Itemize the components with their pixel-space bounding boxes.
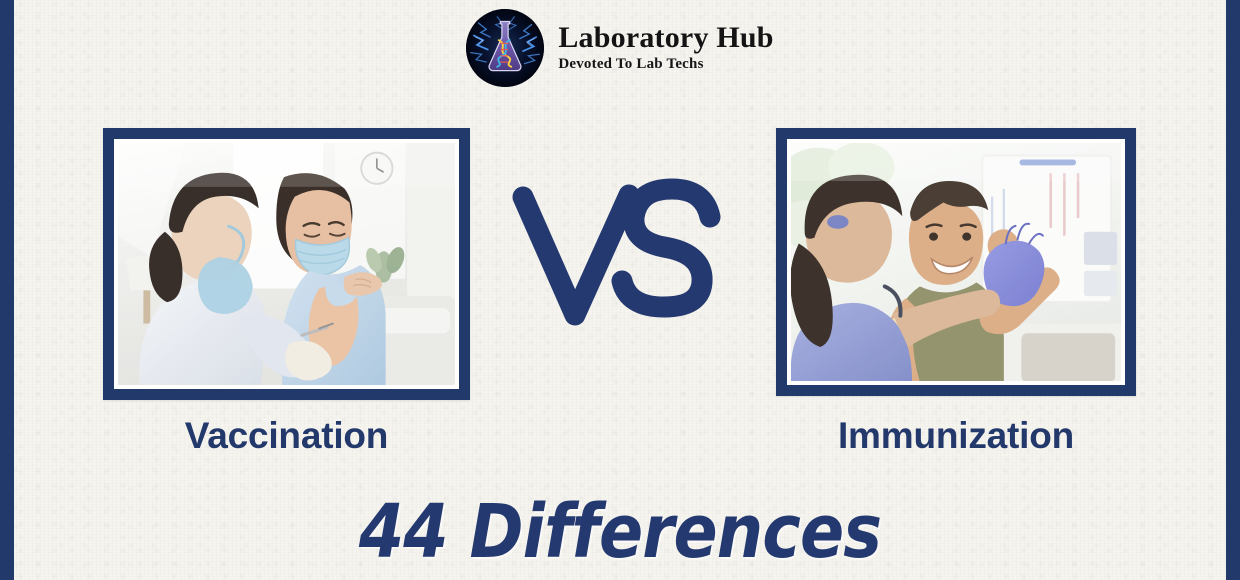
vaccination-caption: Vaccination <box>103 415 470 457</box>
vaccination-photo-illustration <box>118 143 455 385</box>
headline-44-differences: 44 Differences <box>74 489 1165 575</box>
versus-mark <box>497 165 747 355</box>
immunization-photo-illustration <box>791 143 1121 381</box>
immunization-photo <box>791 143 1121 381</box>
vaccination-photo <box>118 143 455 385</box>
brand-header: Laboratory Hub Devoted To Lab Techs <box>0 4 1240 92</box>
flask-dna-lightning-icon <box>466 9 544 87</box>
brand-title: Laboratory Hub <box>558 23 773 54</box>
immunization-photo-frame <box>776 128 1136 396</box>
brand-tagline: Devoted To Lab Techs <box>558 57 703 73</box>
immunization-caption: Immunization <box>776 415 1136 457</box>
brand-text-block: Laboratory Hub Devoted To Lab Techs <box>558 23 773 73</box>
vs-icon <box>497 165 747 355</box>
infographic-canvas: Laboratory Hub Devoted To Lab Techs <box>0 0 1240 580</box>
laboratory-hub-logo <box>466 9 544 87</box>
vaccination-photo-frame <box>103 128 470 400</box>
